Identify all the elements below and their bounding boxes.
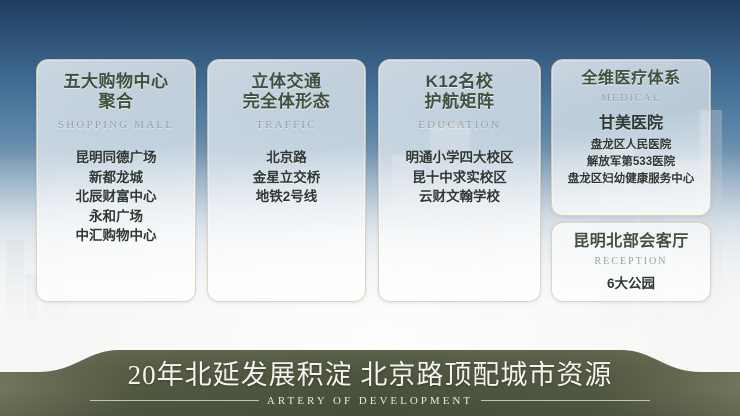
card-body: 甘美医院 盘龙区人民医院 解放军第533医院 盘龙区妇幼健康服务中心 <box>552 113 710 188</box>
card-title: 五大购物中心 聚合 <box>37 72 195 112</box>
card-body: 明通小学四大校区 昆十中求实校区 云财文翰学校 <box>379 148 540 207</box>
feature-card-reception[interactable]: 昆明北部会客厅 RECEPTION 6大公园 <box>551 222 711 302</box>
list-item: 云财文翰学校 <box>379 187 540 207</box>
card-title: K12名校 护航矩阵 <box>379 72 540 112</box>
card-subtitle-en: SHOPPING MALL <box>37 119 195 131</box>
list-item: 金星立交桥 <box>208 168 365 188</box>
card-subtitle-en: MEDICAL <box>552 93 710 104</box>
poster-canvas: 五大购物中心 聚合 SHOPPING MALL 昆明同德广场 新都龙城 北辰财富… <box>0 0 740 416</box>
feature-card-shopping[interactable]: 五大购物中心 聚合 SHOPPING MALL 昆明同德广场 新都龙城 北辰财富… <box>36 59 196 302</box>
list-item: 北京路 <box>208 148 365 168</box>
list-item: 地铁2号线 <box>208 187 365 207</box>
list-item: 盘龙区妇幼健康服务中心 <box>552 171 710 188</box>
list-item: 盘龙区人民医院 <box>552 137 710 154</box>
feature-card-education[interactable]: K12名校 护航矩阵 EDUCATION 明通小学四大校区 昆十中求实校区 云财… <box>378 59 541 302</box>
bottom-banner: 20年北延发展积淀 北京路顶配城市资源 ARTERY OF DEVELOPMEN… <box>0 350 740 416</box>
card-title: 全维医疗体系 <box>552 69 710 89</box>
banner-headline: 20年北延发展积淀 北京路顶配城市资源 <box>128 360 613 390</box>
list-item: 中汇购物中心 <box>37 226 195 246</box>
card-subtitle-en: EDUCATION <box>379 119 540 131</box>
list-item: 永和广场 <box>37 207 195 227</box>
list-item: 解放军第533医院 <box>552 154 710 171</box>
banner-subtitle-row: ARTERY OF DEVELOPMENT <box>90 395 650 407</box>
list-item: 昆十中求实校区 <box>379 168 540 188</box>
list-item: 昆明同德广场 <box>37 148 195 168</box>
banner-rule-left <box>90 400 259 401</box>
card-body: 昆明同德广场 新都龙城 北辰财富中心 永和广场 中汇购物中心 <box>37 148 195 246</box>
list-item: 明通小学四大校区 <box>379 148 540 168</box>
card-subtitle-en: RECEPTION <box>552 256 710 267</box>
banner-rule-right <box>481 400 650 401</box>
card-lead-item: 甘美医院 <box>552 113 710 135</box>
card-title: 立体交通 完全体形态 <box>208 72 365 112</box>
card-title: 昆明北部会客厅 <box>552 232 710 252</box>
list-item: 6大公园 <box>552 274 710 294</box>
list-item: 北辰财富中心 <box>37 187 195 207</box>
card-subtitle-en: TRAFFIC <box>208 119 365 131</box>
card-body: 6大公园 <box>552 274 710 294</box>
card-body: 北京路 金星立交桥 地铁2号线 <box>208 148 365 207</box>
list-item: 新都龙城 <box>37 168 195 188</box>
feature-card-medical[interactable]: 全维医疗体系 MEDICAL 甘美医院 盘龙区人民医院 解放军第533医院 盘龙… <box>551 59 711 216</box>
feature-card-traffic[interactable]: 立体交通 完全体形态 TRAFFIC 北京路 金星立交桥 地铁2号线 <box>207 59 366 302</box>
banner-subtitle-en: ARTERY OF DEVELOPMENT <box>267 395 473 407</box>
feature-card-grid: 五大购物中心 聚合 SHOPPING MALL 昆明同德广场 新都龙城 北辰财富… <box>0 0 740 340</box>
